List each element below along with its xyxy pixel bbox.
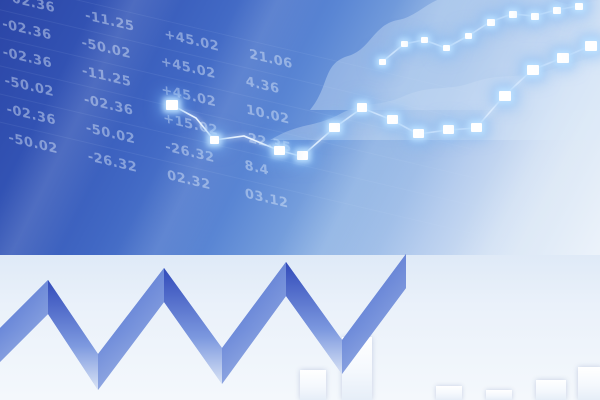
chart-node <box>274 146 285 155</box>
chart-bar <box>578 367 600 400</box>
chart-node <box>527 65 539 75</box>
chart-node <box>499 91 511 101</box>
chart-node <box>471 123 482 132</box>
chart-node <box>387 115 398 124</box>
chart-node <box>357 103 367 112</box>
banner-image: +15.02 -02.36 -11.25 +45.02 21.06 -11.25… <box>0 0 600 400</box>
chart-node <box>575 3 583 10</box>
chart-node <box>379 59 386 65</box>
chart-node <box>465 33 472 39</box>
chart-node <box>443 125 454 134</box>
chart-node <box>297 151 308 160</box>
chart-bar <box>536 380 566 400</box>
chart-node <box>557 53 569 63</box>
chart-bar <box>486 390 512 400</box>
chart-node <box>413 129 424 138</box>
chart-node <box>421 37 428 43</box>
chart-bar <box>436 386 462 400</box>
chart-node <box>401 41 408 47</box>
chart-node <box>531 13 539 20</box>
chart-node <box>166 100 178 110</box>
chart-node <box>443 45 450 51</box>
line-series-lower <box>302 46 590 156</box>
chart-node <box>553 7 561 14</box>
chart-node <box>509 11 517 18</box>
chart-node <box>210 136 219 144</box>
chart-node <box>585 41 597 51</box>
line-series-upper <box>382 6 578 62</box>
zigzag-arrow-ribbon <box>0 244 416 400</box>
glowing-line-chart <box>0 0 600 260</box>
chart-node <box>329 123 340 132</box>
chart-node <box>487 19 495 26</box>
